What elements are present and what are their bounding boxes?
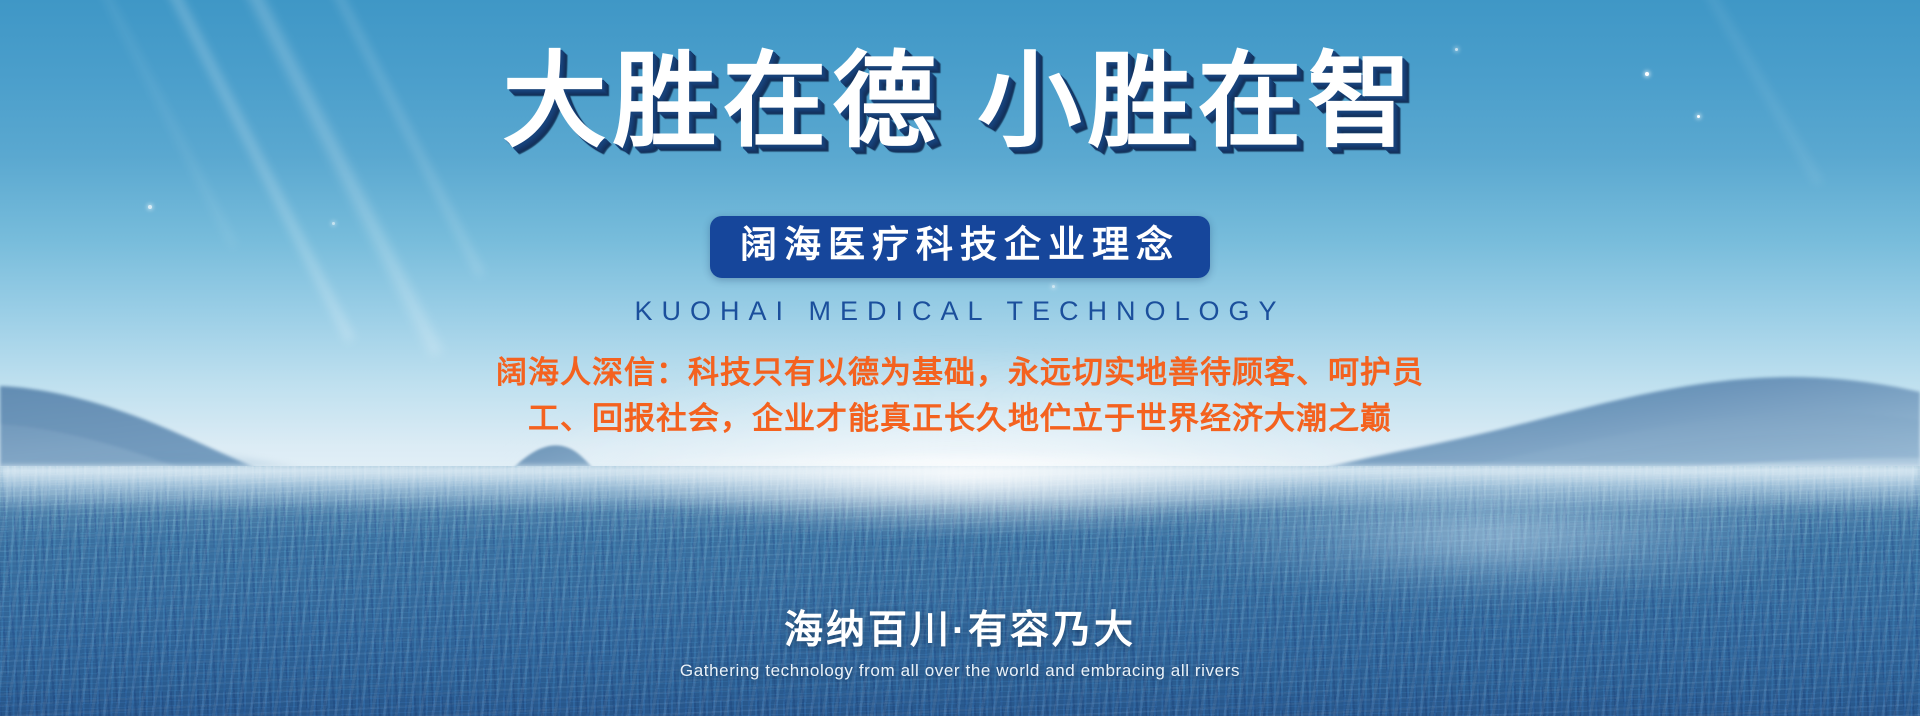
page-title: 大胜在德 小胜在智 bbox=[0, 50, 1920, 154]
paragraph-line-1: 阔海人深信：科技只有以德为基础，永远切实地善待顾客、呵护员 bbox=[0, 350, 1920, 396]
company-philosophy-badge: 阔海医疗科技企业理念 bbox=[710, 216, 1210, 278]
footer-slogan: 海纳百川·有容乃大 Gathering technology from all … bbox=[0, 608, 1920, 681]
footer-slogan-chinese: 海纳百川·有容乃大 bbox=[0, 608, 1920, 654]
paragraph-line-2: 工、回报社会，企业才能真正长久地伫立于世界经济大潮之巅 bbox=[0, 396, 1920, 442]
footer-slogan-english: Gathering technology from all over the w… bbox=[0, 661, 1920, 681]
promotional-banner: 大胜在德 小胜在智 阔海医疗科技企业理念 KUOHAI MEDICAL TECH… bbox=[0, 0, 1920, 716]
philosophy-paragraph: 阔海人深信：科技只有以德为基础，永远切实地善待顾客、呵护员 工、回报社会，企业才… bbox=[0, 350, 1920, 442]
english-subtitle: KUOHAI MEDICAL TECHNOLOGY bbox=[0, 296, 1920, 327]
banner-content: 大胜在德 小胜在智 阔海医疗科技企业理念 KUOHAI MEDICAL TECH… bbox=[0, 0, 1920, 716]
